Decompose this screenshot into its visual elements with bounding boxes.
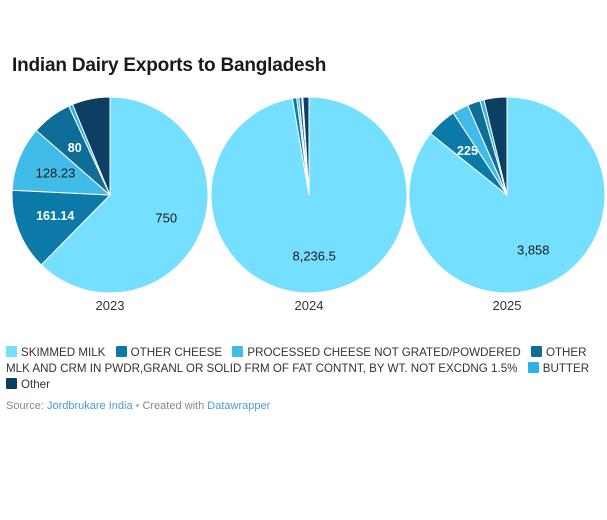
legend-item-label: PROCESSED CHEESE NOT GRATED/POWDERED xyxy=(247,346,520,359)
pie-panel-2023: 750161.14128.23802023 xyxy=(10,95,210,305)
pie-chart-2024 xyxy=(209,95,409,295)
footer-separator: • xyxy=(136,400,140,412)
legend-swatch-icon xyxy=(6,378,17,389)
datawrapper-link[interactable]: Datawrapper xyxy=(207,400,270,412)
page-title: Indian Dairy Exports to Bangladesh xyxy=(12,55,326,77)
legend-item-label: Other xyxy=(21,378,50,391)
chart-container: Indian Dairy Exports to Bangladesh 75016… xyxy=(0,0,607,520)
pie-panels: 750161.14128.238020238,236.520243,858225… xyxy=(0,95,607,305)
legend-swatch-icon xyxy=(6,346,17,357)
legend-item-other-cheese[interactable]: OTHER CHEESE xyxy=(116,346,222,359)
legend-item-label: BUTTER xyxy=(543,362,589,375)
source-link[interactable]: Jordbrukare India xyxy=(47,400,133,412)
legend-swatch-icon xyxy=(116,346,127,357)
legend-swatch-icon xyxy=(531,346,542,357)
source-prefix: Source: xyxy=(6,400,44,412)
legend-swatch-icon xyxy=(232,346,243,357)
footer-credit: Source: Jordbrukare India•Created with D… xyxy=(6,400,270,412)
pie-chart-2025 xyxy=(407,95,607,295)
legend-item-label: OTHER CHEESE xyxy=(131,346,222,359)
created-with-prefix: Created with xyxy=(142,400,204,412)
legend-swatch-icon xyxy=(528,362,539,373)
legend-item-processed-cheese[interactable]: PROCESSED CHEESE NOT GRATED/POWDERED xyxy=(232,346,520,359)
legend-item-butter[interactable]: BUTTER xyxy=(528,362,589,375)
legend-item-skimmed-milk[interactable]: SKIMMED MILK xyxy=(6,346,105,359)
pie-panel-label-2024: 2024 xyxy=(209,298,409,313)
pie-panel-2024: 8,236.52024 xyxy=(209,95,409,305)
pie-panel-2025: 3,8582252025 xyxy=(407,95,607,305)
pie-panel-label-2025: 2025 xyxy=(407,298,607,313)
legend-item-other[interactable]: Other xyxy=(6,378,50,391)
chart-legend: SKIMMED MILK OTHER CHEESE PROCESSED CHEE… xyxy=(6,345,602,393)
legend-item-label: SKIMMED MILK xyxy=(21,346,105,359)
pie-chart-2023 xyxy=(10,95,210,295)
pie-panel-label-2023: 2023 xyxy=(10,298,210,313)
